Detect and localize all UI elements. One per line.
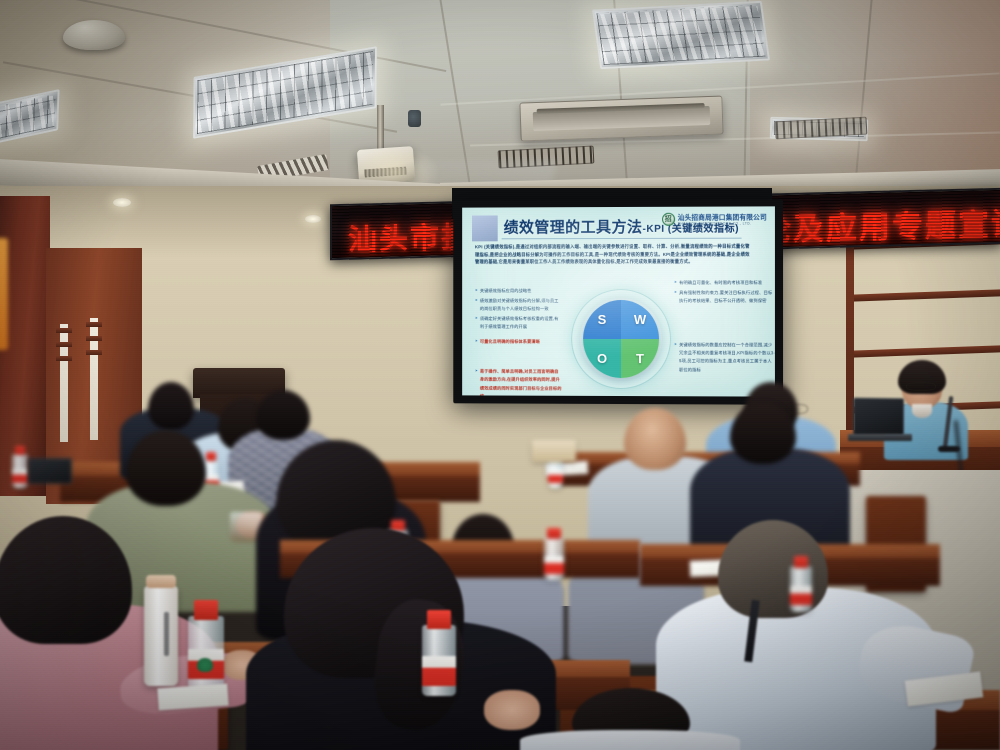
projector-bracket [408, 110, 421, 127]
recessed-downlight-icon [305, 215, 321, 223]
swot-quadrant-s: S [583, 300, 621, 339]
slide-left-column: 关键绩效指标应用的战略性 绩效激励对关键绩效指标的分解,须与员工的岗位职责与个人… [475, 287, 562, 397]
wall-inlay-bar [56, 328, 72, 333]
wall-inlay-bar [86, 336, 102, 341]
slide-title-underline [502, 238, 742, 240]
slide-title-main: 绩效管理的工具方法 [504, 219, 643, 236]
person-p3-head [256, 390, 310, 440]
smoke-detector-icon [63, 20, 125, 50]
air-conditioner-vent [519, 95, 723, 141]
bullet-group: 关键绩效指标应用的战略性 绩效激励对关键绩效指标的分解,须与员工的岗位职责与个人… [475, 287, 562, 331]
person-p4-glasses-icon [788, 404, 808, 414]
wall-inlay-bar [86, 350, 102, 355]
wall-sconce-glow [0, 238, 8, 350]
water-bottle[interactable] [544, 528, 564, 580]
person-partial-torso [520, 730, 740, 750]
presenter-laptop-screen[interactable] [853, 398, 904, 437]
logo-text-cn: 汕头招商局港口集团有限公司 [678, 211, 767, 221]
list-item: 关键绩效指标的数量应控制在一个合理范围,减少冗余且不相关的重复考核项目,KPI指… [674, 341, 775, 374]
swot-quadrant-w: W [621, 300, 659, 339]
person-p7-head [624, 408, 686, 470]
list-item: 有明确且可量化、有时限的考核项目和标准 [674, 279, 775, 287]
logo-text-en: SHANTOU CMPORT GROUP CO., LTD. [678, 221, 767, 225]
presenter-collar [912, 404, 932, 418]
wall-inlay-bar [56, 342, 72, 347]
list-item: 须确定好关键绩效指标考核权重的设置,有利于绩效管理工作的开展 [475, 314, 562, 330]
conference-room-photo: 汕头市投资控 论及应用专题宣讲 绩效管理的工具方法-KPI (关键绩效指标) 招… [0, 0, 1000, 750]
bullet-group: 关键绩效指标的数量应控制在一个合理范围,减少冗余且不相关的重复考核项目,KPI指… [674, 341, 775, 374]
wall-inlay-bar [56, 356, 72, 361]
list-item: 易于操作、简单且明确,对员工而言明确自身的激励方向,在提升组织效率的同时,提升绩… [475, 368, 562, 397]
person-p1-head [148, 382, 194, 430]
presenter-glasses-icon [906, 382, 936, 391]
slide-right-column: 有明确且可量化、有时限的考核项目和标准 具有强制性和约束力,要关注目标执行过程、… [674, 279, 775, 381]
swot-quadrant-t: T [621, 339, 659, 378]
list-item: 关键绩效指标应用的战略性 [475, 287, 562, 295]
list-item: 绩效激励对关键绩效指标的分解,须与员工的岗位职责与个人绩效目标挂钩一致 [475, 297, 562, 313]
led-banner-text-right: 论及应用专题宣讲 [760, 198, 1000, 249]
slide-paragraph: KPI (关键绩效指标),是通过对组织内部流程的输入端、输出端的关键参数进行设置… [475, 243, 750, 266]
water-bottle[interactable] [422, 610, 456, 696]
ceiling-red-tint [760, 0, 1000, 196]
tissue-box [532, 440, 576, 462]
person-p8-head [730, 402, 796, 464]
projection-screen: 绩效管理的工具方法-KPI (关键绩效指标) 招 汕头招商局港口集团有限公司 S… [453, 199, 783, 404]
ceiling-light-panel [592, 1, 770, 70]
list-item: 具有强制性和约束力,要关注目标执行过程、目标执行的考核结果、目标不公开透明、做到… [674, 289, 775, 305]
water-bottle[interactable] [188, 600, 224, 690]
slide-content: 绩效管理的工具方法-KPI (关键绩效指标) 招 汕头招商局港口集团有限公司 S… [462, 206, 775, 396]
bullet-group: 有明确且可量化、有时限的考核项目和标准 具有强制性和约束力,要关注目标执行过程、… [674, 279, 775, 305]
logo-mark-icon: 招 [662, 212, 675, 225]
swot-diagram: S W O T [583, 300, 659, 378]
presenter-laptop-base[interactable] [848, 434, 912, 441]
wall-inlay-bar [86, 322, 102, 327]
bullet-group-highlight: 易于操作、简单且明确,对员工而言明确自身的激励方向,在提升组织效率的同时,提升绩… [475, 368, 562, 397]
thermos-bottle[interactable] [144, 586, 178, 686]
person-p10-hand [484, 690, 540, 730]
water-bottle[interactable] [790, 556, 812, 612]
water-bottle[interactable] [12, 446, 28, 488]
company-logo: 招 汕头招商局港口集团有限公司 SHANTOU CMPORT GROUP CO.… [662, 211, 767, 225]
audience-laptop[interactable] [28, 458, 72, 484]
bullet-group-highlight: 可量化且明确的指标体系要清晰 [475, 338, 562, 346]
recessed-downlight-icon [113, 198, 131, 207]
list-item: 可量化且明确的指标体系要清晰 [475, 338, 562, 346]
swot-quadrant-o: O [583, 339, 621, 378]
slide-title-accent [472, 215, 498, 241]
